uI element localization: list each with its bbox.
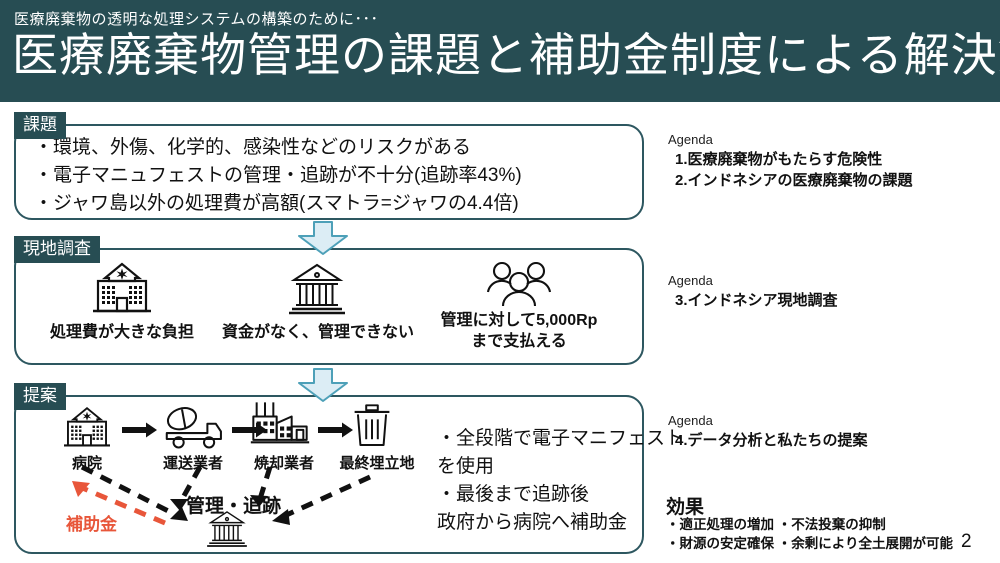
survey-item-1: 資金がなく、管理できない bbox=[222, 260, 412, 343]
survey-caption-2b: まで支払える bbox=[424, 331, 614, 352]
flow-node-truck bbox=[160, 404, 226, 452]
survey-section-tab: 現地調査 bbox=[14, 236, 100, 263]
page-number: 2 bbox=[961, 531, 972, 553]
survey-item-2: 管理に対して5,000Rp まで支払える bbox=[424, 258, 614, 352]
truck-icon bbox=[160, 404, 226, 452]
header-subtitle: 医療廃棄物の透明な処理システムの構築のために･･･ bbox=[14, 8, 379, 29]
proposal-point-0: ・全段階で電子マニフェスト bbox=[437, 425, 684, 453]
issues-bullet-0: ・環境、外傷、化学的、感染性などのリスクがある bbox=[34, 134, 522, 162]
effects-line-2: ・財源の安定確保 ・余剰により全土展開が可能 bbox=[666, 534, 953, 554]
proposal-point-3: 政府から病院へ補助金 bbox=[437, 509, 684, 537]
flow-node-landfill bbox=[350, 402, 394, 450]
agenda-item-1: 1.医療廃棄物がもたらす危険性 bbox=[668, 149, 913, 170]
issues-section-tab: 課題 bbox=[14, 112, 66, 139]
flow-node-factory bbox=[250, 398, 310, 450]
issues-bullet-list: ・環境、外傷、化学的、感染性などのリスクがある ・電子マニュフェストの管理・追跡… bbox=[34, 134, 522, 218]
agenda-item-3: 3.インドネシア現地調査 bbox=[668, 290, 838, 311]
flow-down-arrow-2 bbox=[297, 368, 349, 402]
issues-bullet-2: ・ジャワ島以外の処理費が高額(スマトラ=ジャワの4.4倍) bbox=[34, 190, 522, 218]
agenda-block-3: Agenda 4.データ分析と私たちの提案 bbox=[668, 412, 868, 451]
hospital-icon bbox=[56, 405, 118, 451]
agenda-heading: Agenda bbox=[668, 272, 838, 290]
agenda-block-2: Agenda 3.インドネシア現地調査 bbox=[668, 272, 838, 311]
subsidy-label: 補助金 bbox=[66, 510, 117, 535]
survey-item-0: 処理費が大きな負担 bbox=[32, 260, 212, 343]
proposal-point-1: を使用 bbox=[437, 453, 684, 481]
agenda-item-4: 4.データ分析と私たちの提案 bbox=[668, 430, 868, 451]
proposal-point-2: ・最後まで追跡後 bbox=[437, 481, 684, 509]
page-title: 医療廃棄物管理の課題と補助金制度による解決策 bbox=[12, 29, 1000, 81]
flow-arrow-1-icon bbox=[122, 422, 158, 438]
agenda-item-2: 2.インドネシアの医療廃棄物の課題 bbox=[668, 170, 913, 191]
slide-header-bar: 医療廃棄物の透明な処理システムの構築のために･･･ 医療廃棄物管理の課題と補助金… bbox=[0, 0, 1000, 102]
tracking-node-icon bbox=[205, 508, 249, 550]
agenda-heading: Agenda bbox=[668, 412, 868, 430]
flow-node-hospital bbox=[56, 405, 118, 451]
government-building-icon bbox=[205, 508, 249, 550]
agenda-block-1: Agenda 1.医療廃棄物がもたらす危険性 2.インドネシアの医療廃棄物の課題 bbox=[668, 131, 913, 191]
flow-down-arrow-1 bbox=[297, 221, 349, 255]
issues-bullet-1: ・電子マニュフェストの管理・追跡が不十分(追跡率43%) bbox=[34, 162, 522, 190]
factory-icon bbox=[250, 398, 310, 450]
survey-caption-2a: 管理に対して5,000Rp bbox=[424, 310, 614, 331]
people-group-icon bbox=[424, 258, 614, 310]
proposal-points-list: ・全段階で電子マニフェスト を使用 ・最後まで追跡後 政府から病院へ補助金 bbox=[437, 425, 684, 537]
flow-arrow-3-icon bbox=[318, 422, 354, 438]
survey-caption-0: 処理費が大きな負担 bbox=[32, 322, 212, 343]
proposal-section-tab: 提案 bbox=[14, 383, 66, 410]
hospital-icon bbox=[32, 260, 212, 318]
survey-caption-1: 資金がなく、管理できない bbox=[222, 322, 412, 343]
agenda-heading: Agenda bbox=[668, 131, 913, 149]
trash-bin-icon bbox=[350, 402, 394, 450]
government-building-icon bbox=[222, 260, 412, 318]
effects-line-1: ・適正処理の増加 ・不法投棄の抑制 bbox=[666, 515, 886, 535]
